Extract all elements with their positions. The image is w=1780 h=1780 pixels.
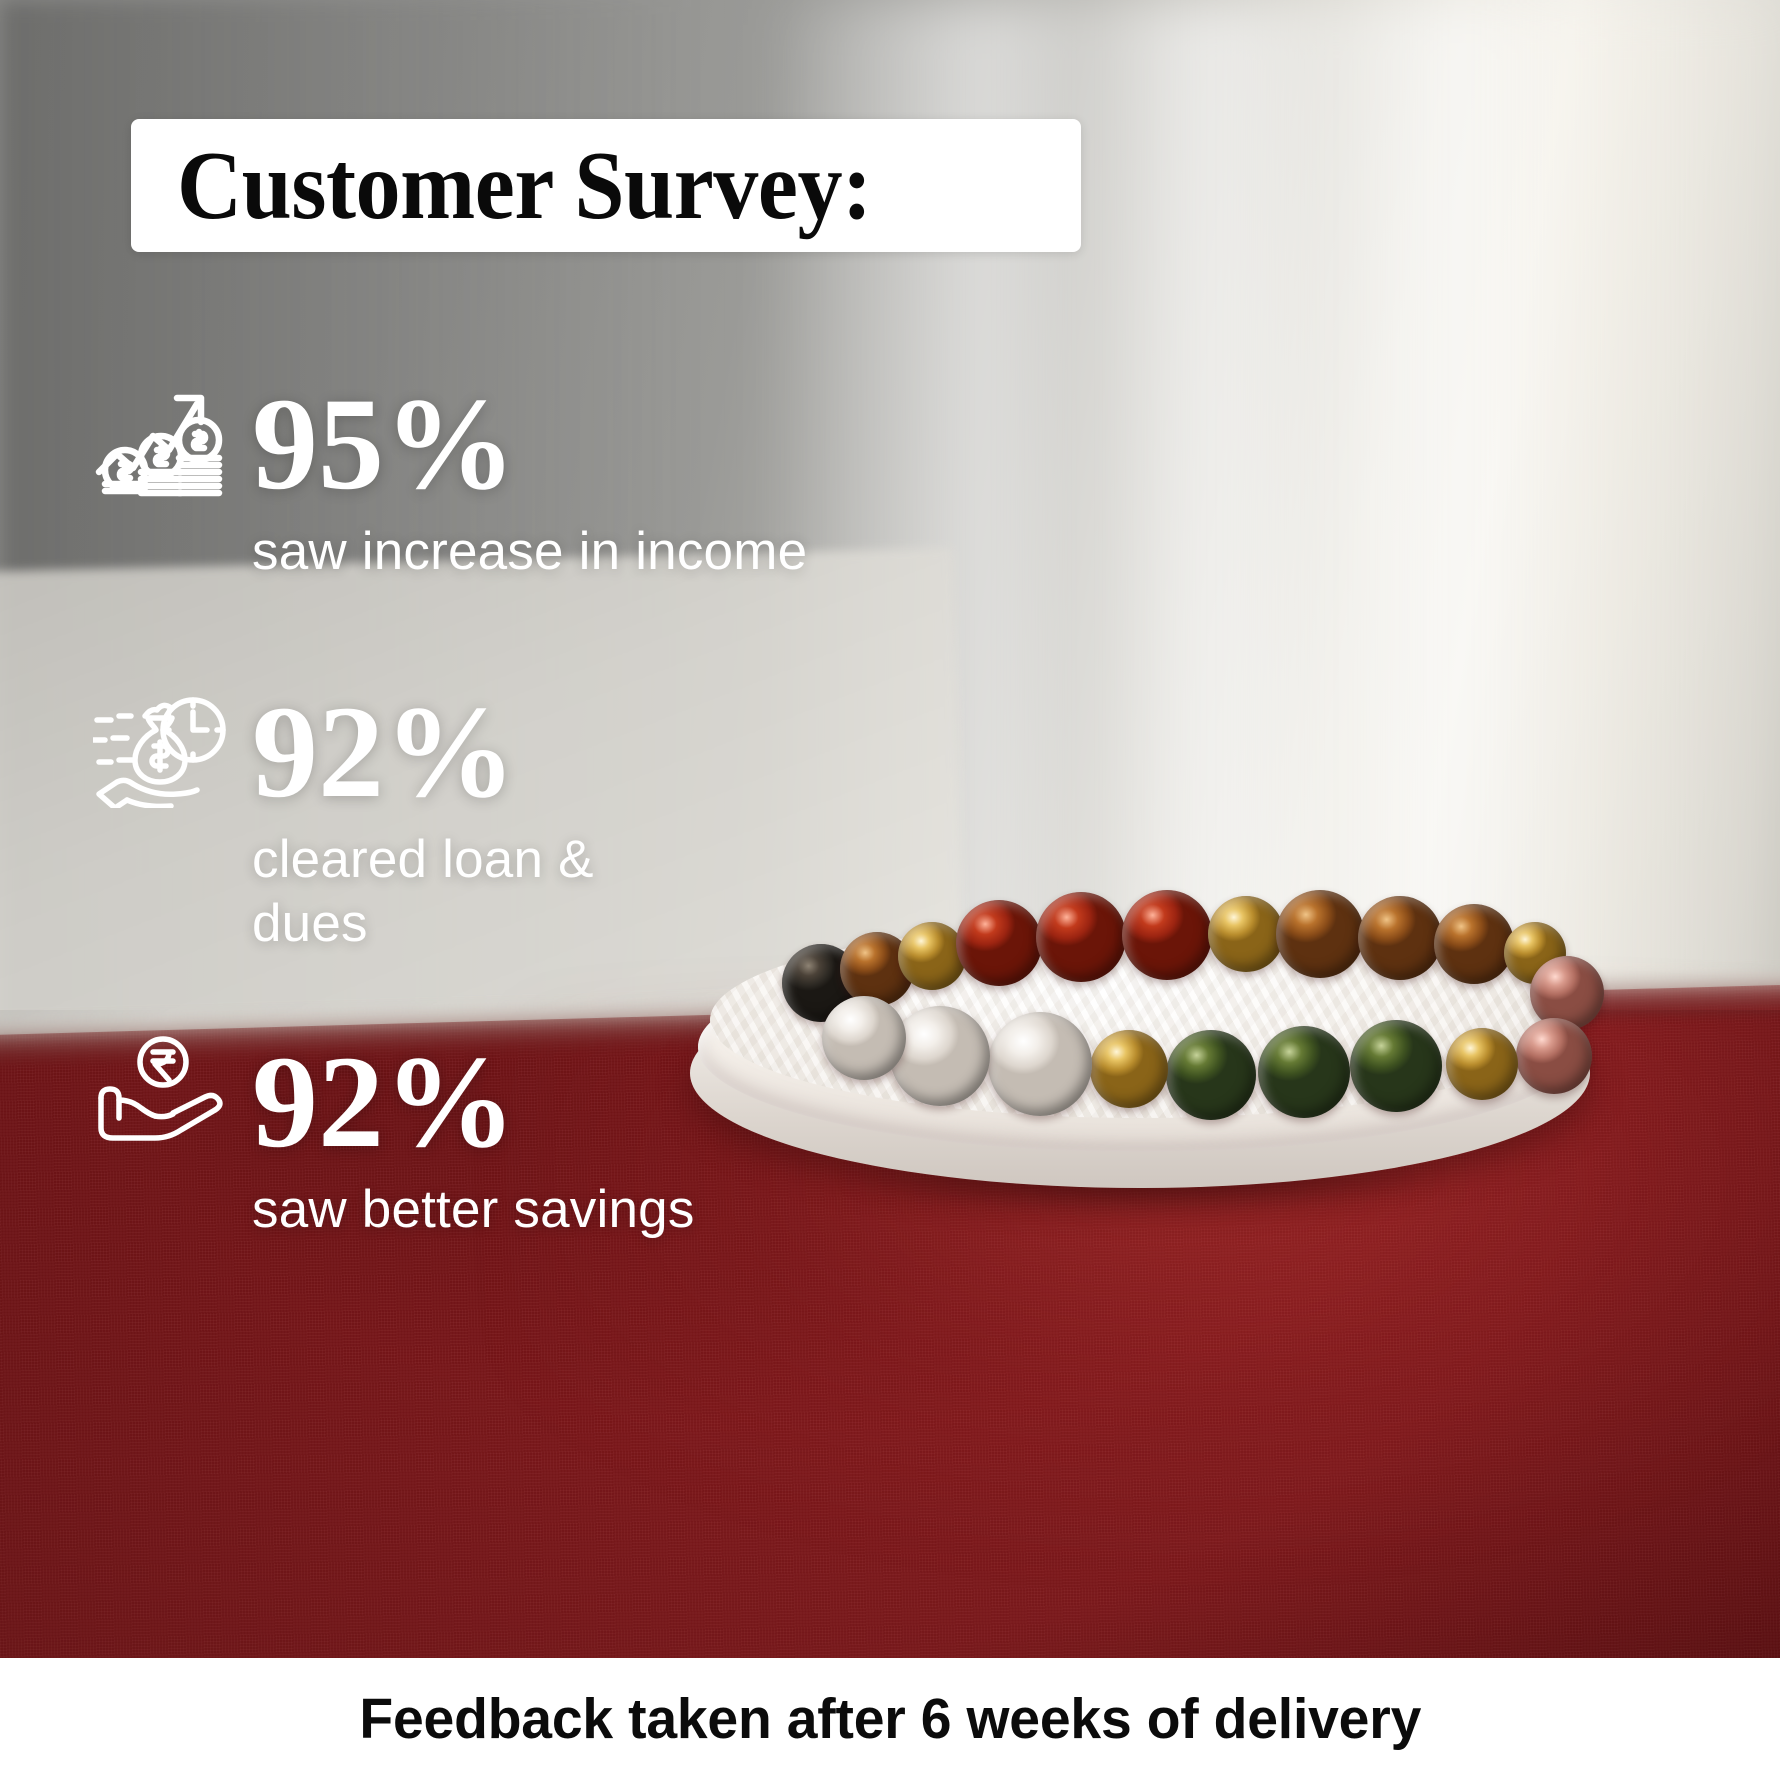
title-banner: Customer Survey: — [131, 119, 1081, 252]
page-title: Customer Survey: — [177, 137, 872, 235]
bead — [1516, 1018, 1592, 1094]
growth-chart-coins-icon — [90, 378, 230, 498]
stat-block-loan: 92% cleared loan & dues — [90, 686, 594, 955]
bead — [1434, 904, 1514, 984]
bead — [822, 996, 906, 1080]
stat-label: cleared loan & dues — [252, 828, 594, 955]
gemstone-bead-bracelet — [730, 860, 1550, 1110]
bead — [1446, 1028, 1518, 1100]
stat-value: 92% — [252, 686, 594, 818]
bead — [1530, 956, 1604, 1030]
stat-label: saw better savings — [252, 1178, 695, 1242]
product-photo-group — [690, 880, 1590, 1210]
stat-text-group: 92% cleared loan & dues — [230, 686, 594, 955]
bead — [1276, 890, 1364, 978]
bead — [956, 900, 1042, 986]
stat-block-savings: 92% saw better savings — [90, 1036, 695, 1242]
footer-bar: Feedback taken after 6 weeks of delivery — [0, 1658, 1780, 1780]
stat-value: 95% — [252, 378, 807, 510]
bead — [1122, 890, 1212, 980]
bead — [1358, 896, 1442, 980]
money-bag-hand-clock-icon — [90, 686, 230, 808]
stat-text-group: 92% saw better savings — [230, 1036, 695, 1242]
stat-block-income: 95% saw increase in income — [90, 378, 807, 584]
footer-note: Feedback taken after 6 weeks of delivery — [359, 1686, 1421, 1752]
stat-value: 92% — [252, 1036, 695, 1168]
bead — [1350, 1020, 1442, 1112]
bead — [1090, 1030, 1168, 1108]
bead — [988, 1012, 1092, 1116]
customer-survey-poster: Customer Survey: 95% — [0, 0, 1780, 1780]
bead — [1036, 892, 1126, 982]
bead — [1166, 1030, 1256, 1120]
bead — [1258, 1026, 1350, 1118]
stat-text-group: 95% saw increase in income — [230, 378, 807, 584]
bead — [890, 1006, 990, 1106]
hand-rupee-coin-icon — [90, 1036, 230, 1146]
bead — [898, 922, 966, 990]
bead — [1208, 896, 1284, 972]
stat-label: saw increase in income — [252, 520, 807, 584]
